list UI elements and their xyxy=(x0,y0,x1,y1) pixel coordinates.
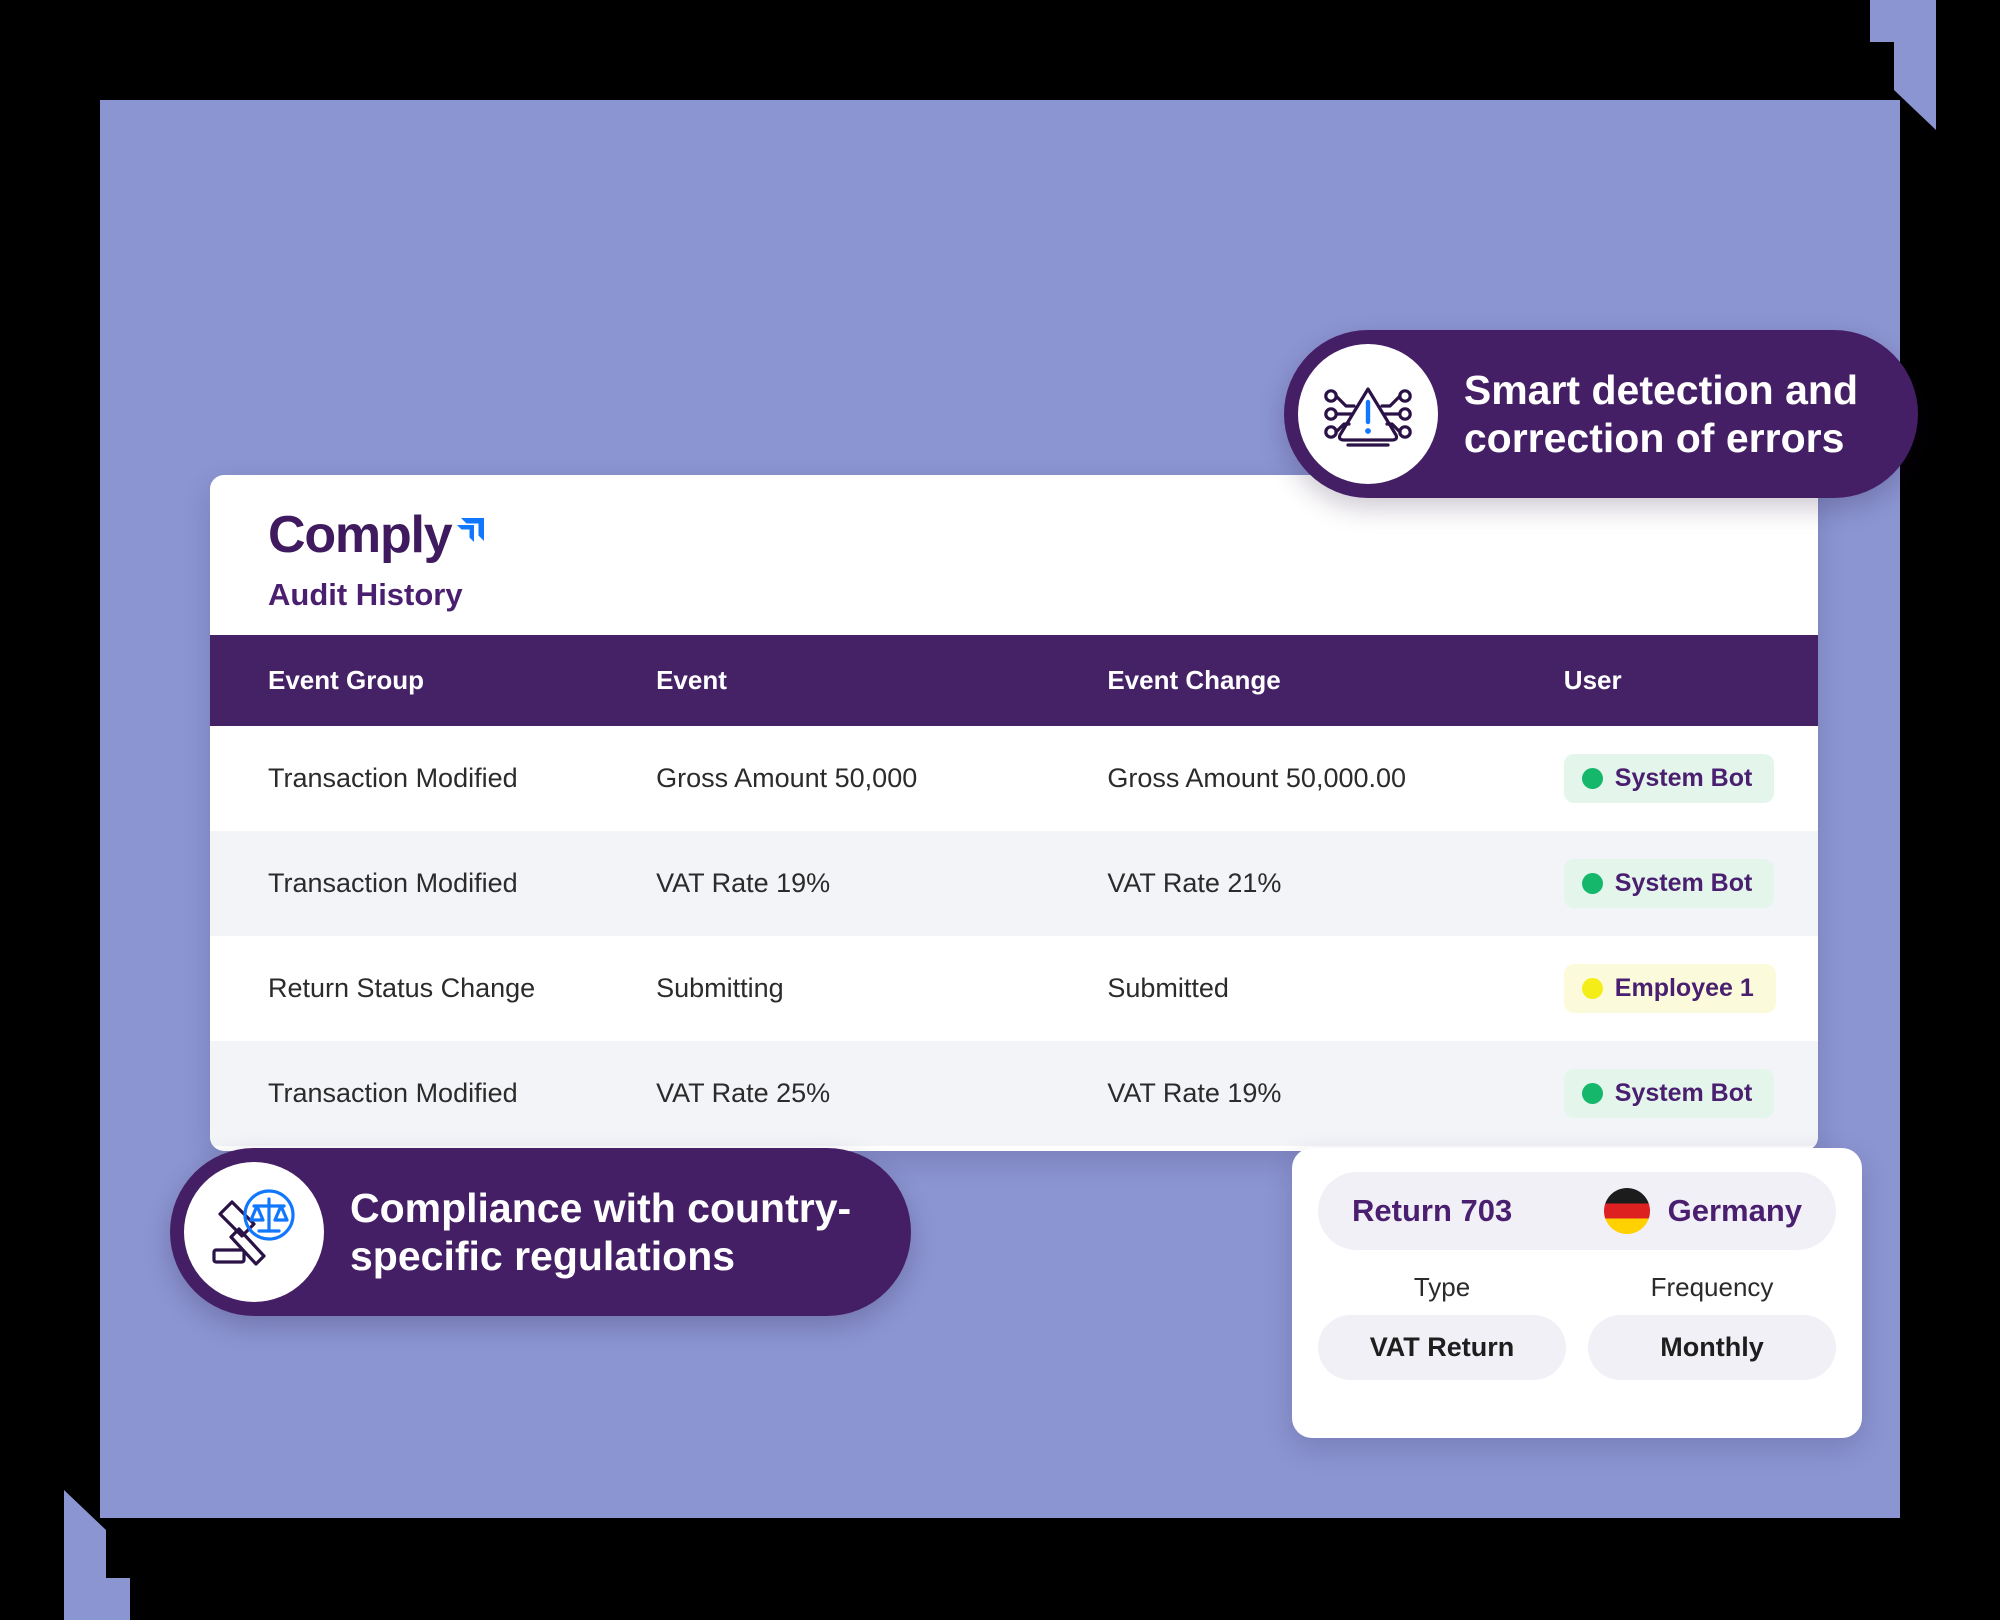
feature-pill-label: Compliance with country- specific regula… xyxy=(324,1184,897,1281)
status-badge-label: System Bot xyxy=(1615,1079,1753,1108)
status-dot-icon xyxy=(1582,768,1603,789)
type-label: Type xyxy=(1318,1272,1566,1303)
return-attributes: Type VAT Return Frequency Monthly xyxy=(1318,1272,1836,1380)
feature-pill-smart-detection: Smart detection and correction of errors xyxy=(1284,330,1918,498)
column-header-event[interactable]: Event xyxy=(656,635,1107,726)
status-badge: Employee 1 xyxy=(1564,964,1776,1013)
cell-event-change: VAT Rate 19% xyxy=(1107,1041,1563,1146)
return-id-label: Return 703 xyxy=(1352,1193,1512,1229)
cell-event: VAT Rate 19% xyxy=(656,831,1107,936)
cell-event-group: Transaction Modified xyxy=(210,726,656,831)
status-dot-icon xyxy=(1582,873,1603,894)
cell-event: VAT Rate 25% xyxy=(656,1041,1107,1146)
cell-event: Submitting xyxy=(656,936,1107,1041)
cell-user: System Bot xyxy=(1564,1041,1818,1146)
column-header-event-group[interactable]: Event Group xyxy=(210,635,656,726)
cell-user: Employee 1 xyxy=(1564,936,1818,1041)
type-value[interactable]: VAT Return xyxy=(1318,1315,1566,1380)
warning-triangle-circuit-icon xyxy=(1298,344,1438,484)
table-header: Event Group Event Event Change User xyxy=(210,635,1818,726)
cell-event-group: Transaction Modified xyxy=(210,831,656,936)
logo-wordmark: Comply xyxy=(268,509,451,561)
cell-event-group: Return Status Change xyxy=(210,936,656,1041)
frequency-value[interactable]: Monthly xyxy=(1588,1315,1836,1380)
return-header[interactable]: Return 703 Germany xyxy=(1318,1172,1836,1250)
return-attribute-frequency: Frequency Monthly xyxy=(1588,1272,1836,1380)
cell-event-change: Submitted xyxy=(1107,936,1563,1041)
column-header-user[interactable]: User xyxy=(1564,635,1818,726)
status-badge-label: Employee 1 xyxy=(1615,974,1754,1003)
country-name-label: Germany xyxy=(1668,1193,1802,1229)
audit-history-table: Event Group Event Event Change User Tran… xyxy=(210,635,1818,1146)
frequency-label: Frequency xyxy=(1588,1272,1836,1303)
status-badge: System Bot xyxy=(1564,754,1775,803)
table-row[interactable]: Transaction Modified Gross Amount 50,000… xyxy=(210,726,1818,831)
return-country: Germany xyxy=(1604,1188,1802,1234)
status-dot-icon xyxy=(1582,1083,1603,1104)
table-row[interactable]: Return Status Change Submitting Submitte… xyxy=(210,936,1818,1041)
table-row[interactable]: Transaction Modified VAT Rate 25% VAT Ra… xyxy=(210,1041,1818,1146)
status-badge: System Bot xyxy=(1564,1069,1775,1118)
status-badge: System Bot xyxy=(1564,859,1775,908)
status-dot-icon xyxy=(1582,978,1603,999)
return-attribute-type: Type VAT Return xyxy=(1318,1272,1566,1380)
audit-history-card: Comply Audit History Event Group Event E… xyxy=(210,475,1818,1151)
cell-user: System Bot xyxy=(1564,831,1818,936)
double-chevron-arrow-icon xyxy=(455,513,489,547)
cell-event-group: Transaction Modified xyxy=(210,1041,656,1146)
feature-pill-label: Smart detection and correction of errors xyxy=(1438,366,1904,463)
table-body: Transaction Modified Gross Amount 50,000… xyxy=(210,726,1818,1146)
gavel-scales-icon xyxy=(184,1162,324,1302)
status-badge-label: System Bot xyxy=(1615,764,1753,793)
table-header-row: Event Group Event Event Change User xyxy=(210,635,1818,726)
page-title: Audit History xyxy=(268,577,1818,613)
table-row[interactable]: Transaction Modified VAT Rate 19% VAT Ra… xyxy=(210,831,1818,936)
return-summary-card: Return 703 Germany Type VAT Return Frequ… xyxy=(1292,1148,1862,1438)
cell-user: System Bot xyxy=(1564,726,1818,831)
status-badge-label: System Bot xyxy=(1615,869,1753,898)
flag-germany-icon xyxy=(1604,1188,1650,1234)
feature-pill-compliance: Compliance with country- specific regula… xyxy=(170,1148,911,1316)
column-header-event-change[interactable]: Event Change xyxy=(1107,635,1563,726)
cell-event: Gross Amount 50,000 xyxy=(656,726,1107,831)
comply-logo: Comply xyxy=(268,509,1818,561)
screenshot-stage: Comply Audit History Event Group Event E… xyxy=(0,0,2000,1620)
cell-event-change: Gross Amount 50,000.00 xyxy=(1107,726,1563,831)
cell-event-change: VAT Rate 21% xyxy=(1107,831,1563,936)
